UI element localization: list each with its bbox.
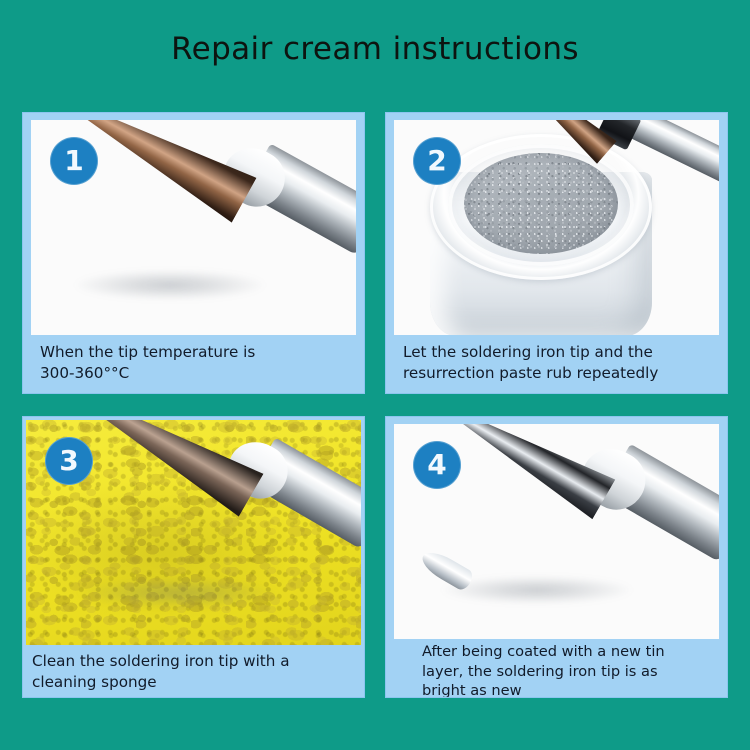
step-caption-4: After being coated with a new tin layer,… [386, 639, 727, 698]
step-number-4: 4 [427, 451, 446, 479]
step-card-4: 4 After being coated with a new tin laye… [385, 416, 728, 698]
page-title: Repair cream instructions [171, 31, 579, 67]
step-caption-1: When the tip temperature is 300-360°°C [23, 335, 364, 393]
step-number-2: 2 [427, 147, 446, 175]
step-caption-3: Clean the soldering iron tip with a clea… [23, 645, 364, 697]
step-caption-2: Let the soldering iron tip and the resur… [386, 335, 727, 393]
title-bar: Repair cream instructions [0, 0, 750, 98]
step-number-3: 3 [59, 447, 78, 475]
steps-grid: 1 When the tip temperature is 300-360°°C [22, 112, 728, 720]
step-4-photo: 4 [394, 424, 719, 639]
instruction-infographic: Repair cream instructions 1 When the ti [0, 0, 750, 750]
step-badge-2: 2 [413, 137, 461, 185]
step-badge-4: 4 [413, 441, 461, 489]
step-1-photo: 1 [31, 120, 356, 335]
step-number-1: 1 [64, 147, 83, 175]
step-card-1: 1 When the tip temperature is 300-360°°C [22, 112, 365, 394]
step-2-photo: 2 [394, 120, 719, 335]
step-card-2: 2 Let the soldering iron tip and the res… [385, 112, 728, 394]
step-badge-3: 3 [45, 437, 93, 485]
step-card-3: 3 Clean the soldering iron tip with a cl… [22, 416, 365, 698]
step-badge-1: 1 [50, 137, 98, 185]
step-3-photo: 3 [26, 420, 361, 645]
